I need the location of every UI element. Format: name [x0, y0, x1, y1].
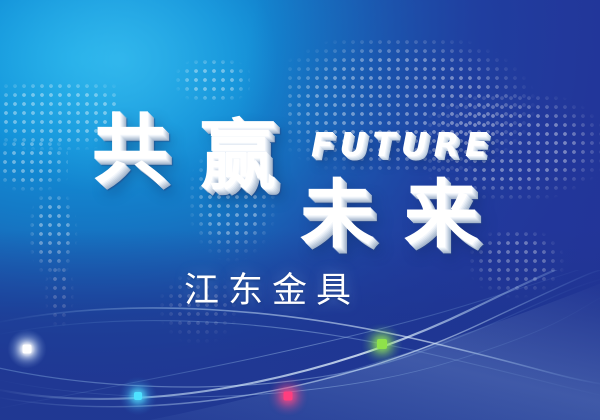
headline-char-ying: 赢 — [200, 118, 278, 194]
headline-char-wei: 未 — [300, 178, 375, 252]
promo-banner: 共 赢 FUTURE 未 来 江东金具 — [0, 0, 600, 420]
headline-stage: 共 赢 FUTURE 未 来 江东金具 — [0, 0, 600, 420]
company-name: 江东金具 — [184, 274, 360, 309]
headline-char-lai: 来 — [404, 178, 479, 252]
headline-char-gong: 共 — [92, 112, 170, 188]
headline-english: FUTURE — [311, 128, 494, 161]
